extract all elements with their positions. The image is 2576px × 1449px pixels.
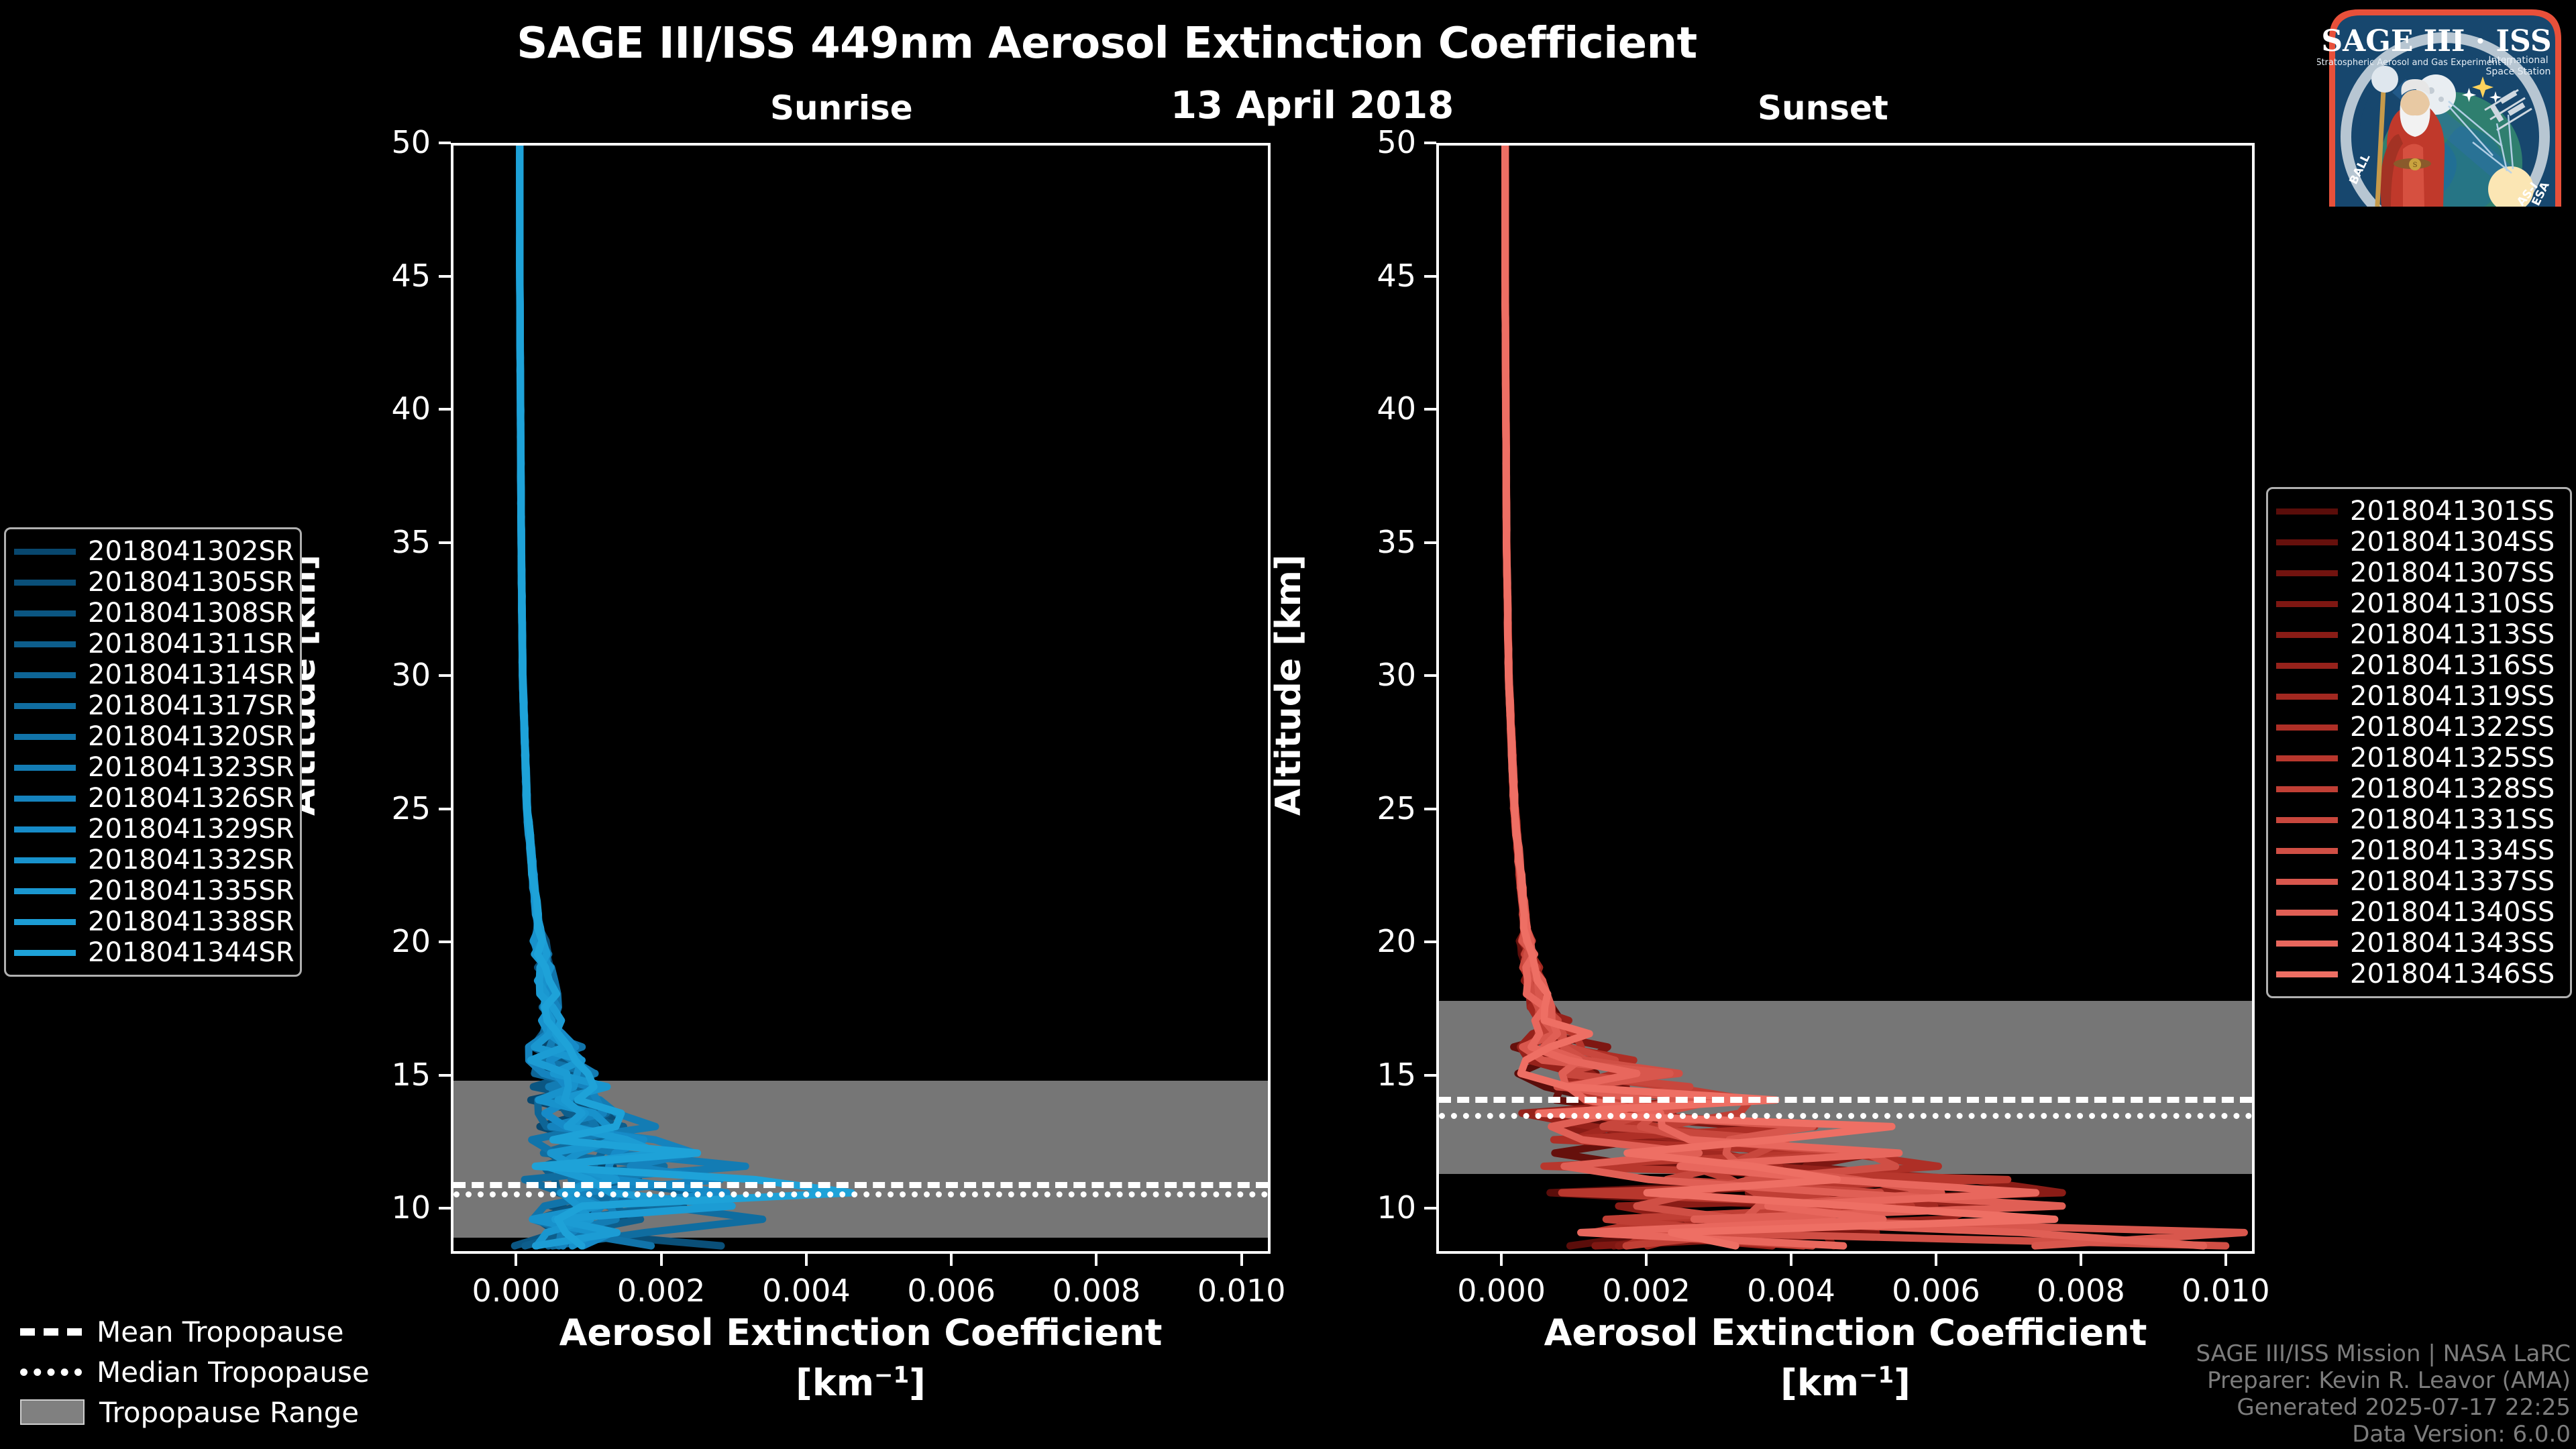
y-tick-label: 30 xyxy=(1302,657,1416,693)
legend-item[interactable]: 2018041325SS xyxy=(2276,743,2561,773)
y-tick-label: 25 xyxy=(1302,790,1416,826)
legend-item-label: 2018041308SR xyxy=(88,598,294,629)
legend-color-swatch xyxy=(2276,848,2338,854)
x-unit-close: ] xyxy=(909,1362,926,1404)
legend-color-swatch xyxy=(2276,786,2338,792)
x-tick-mark xyxy=(1645,1254,1648,1266)
legend-item[interactable]: 2018041331SS xyxy=(2276,804,2561,835)
tropopause-legend-swatch xyxy=(20,1368,82,1376)
legend-color-swatch xyxy=(14,734,76,740)
x-tick-label: 0.004 xyxy=(733,1273,880,1309)
x-tick-mark xyxy=(805,1254,808,1266)
legend-item-label: 2018041304SS xyxy=(2350,527,2555,557)
legend-color-swatch xyxy=(2276,724,2338,731)
x-tick-mark xyxy=(1790,1254,1792,1266)
credits-block: SAGE III/ISS Mission | NASA LaRCPreparer… xyxy=(2196,1340,2571,1448)
y-tick-mark xyxy=(439,941,451,943)
legend-item[interactable]: 2018041346SS xyxy=(2276,959,2561,989)
y-tick-mark xyxy=(439,541,451,544)
tropopause-legend-label: Mean Tropopause xyxy=(97,1316,343,1348)
legend-color-swatch xyxy=(2276,910,2338,916)
y-tick-mark xyxy=(439,142,451,144)
series-plot-lines xyxy=(1439,146,2252,1251)
legend-item-label: 2018041323SR xyxy=(88,752,294,783)
subtitle-sunset: Sunset xyxy=(1758,89,1888,127)
legend-item[interactable]: 2018041337SS xyxy=(2276,866,2561,897)
x-tick-mark xyxy=(1095,1254,1097,1266)
x-unit-base: [km xyxy=(1780,1362,1859,1404)
legend-item-label: 2018041316SS xyxy=(2350,650,2555,681)
legend-item-label: 2018041317SR xyxy=(88,690,294,721)
legend-item-label: 2018041301SS xyxy=(2350,496,2555,527)
legend-color-swatch xyxy=(14,672,76,678)
legend-color-swatch xyxy=(14,765,76,771)
legend-item[interactable]: 2018041305SR xyxy=(14,567,290,598)
mean-tropopause-line xyxy=(1439,1097,2252,1103)
y-tick-label: 45 xyxy=(1302,258,1416,294)
sunrise-legend[interactable]: 2018041302SR2018041305SR2018041308SR2018… xyxy=(4,527,302,977)
legend-color-swatch xyxy=(2276,879,2338,885)
logo-subtitle-right-2: Space Station xyxy=(2486,66,2551,77)
tropopause-legend-swatch xyxy=(20,1399,85,1425)
x-tick-mark xyxy=(515,1254,517,1266)
x-unit-exponent: −1 xyxy=(1859,1362,1894,1389)
y-tick-label: 45 xyxy=(317,258,431,294)
x-tick-mark xyxy=(2224,1254,2227,1266)
y-tick-label: 50 xyxy=(317,124,431,160)
legend-color-swatch xyxy=(14,580,76,586)
x-tick-label: 0.006 xyxy=(1862,1273,2010,1309)
legend-item-label: 2018041307SS xyxy=(2350,557,2555,588)
x-tick-label: 0.008 xyxy=(1022,1273,1170,1309)
tropopause-legend-label: Tropopause Range xyxy=(99,1396,359,1429)
legend-item-label: 2018041343SS xyxy=(2350,928,2555,959)
credits-line: Data Version: 6.0.0 xyxy=(2196,1421,2571,1448)
legend-item[interactable]: 2018041310SS xyxy=(2276,588,2561,619)
legend-item[interactable]: 2018041314SR xyxy=(14,659,290,690)
credits-line: Preparer: Kevin R. Leavor (AMA) xyxy=(2196,1367,2571,1394)
sunset-legend[interactable]: 2018041301SS2018041304SS2018041307SS2018… xyxy=(2266,487,2572,998)
legend-item[interactable]: 2018041317SR xyxy=(14,690,290,721)
median-tropopause-line xyxy=(1439,1113,2252,1119)
x-tick-mark xyxy=(1935,1254,1937,1266)
legend-item-label: 2018041335SR xyxy=(88,875,294,906)
legend-item[interactable]: 2018041343SS xyxy=(2276,928,2561,959)
legend-item[interactable]: 2018041320SR xyxy=(14,721,290,752)
x-tick-label: 0.002 xyxy=(1572,1273,1720,1309)
legend-color-swatch xyxy=(14,950,76,956)
legend-color-swatch xyxy=(14,610,76,616)
legend-color-swatch xyxy=(14,919,76,925)
legend-item[interactable]: 2018041311SR xyxy=(14,629,290,659)
legend-item-label: 2018041346SS xyxy=(2350,959,2555,989)
y-tick-label: 40 xyxy=(317,390,431,427)
legend-item-label: 2018041325SS xyxy=(2350,743,2555,773)
sunrise-plot-axes xyxy=(451,143,1271,1254)
x-tick-label: 0.010 xyxy=(1168,1273,1316,1309)
y-tick-label: 10 xyxy=(317,1189,431,1226)
logo-subtitle-left: Stratospheric Aerosol and Gas Experiment… xyxy=(2317,58,2512,68)
legend-item[interactable]: 2018041344SR xyxy=(14,937,290,968)
legend-item[interactable]: 2018041307SS xyxy=(2276,557,2561,588)
x-tick-mark xyxy=(2080,1254,2082,1266)
y-tick-mark xyxy=(1424,142,1436,144)
x-tick-label: 0.008 xyxy=(2007,1273,2155,1309)
x-tick-mark xyxy=(1240,1254,1243,1266)
legend-item[interactable]: 2018041323SR xyxy=(14,752,290,783)
y-tick-mark xyxy=(1424,275,1436,278)
legend-item-label: 2018041328SS xyxy=(2350,773,2555,804)
y-tick-mark xyxy=(439,275,451,278)
legend-color-swatch xyxy=(14,703,76,709)
tropopause-legend-item: Median Tropopause xyxy=(20,1352,396,1392)
legend-color-swatch xyxy=(2276,601,2338,607)
x-tick-mark xyxy=(660,1254,663,1266)
legend-item[interactable]: 2018041302SR xyxy=(14,536,290,567)
x-unit-base: [km xyxy=(796,1362,874,1404)
legend-item[interactable]: 2018041322SS xyxy=(2276,712,2561,743)
y-tick-mark xyxy=(439,1207,451,1210)
legend-item-label: 2018041329SR xyxy=(88,814,294,845)
legend-item-label: 2018041337SS xyxy=(2350,866,2555,897)
legend-item[interactable]: 2018041335SR xyxy=(14,875,290,906)
sunrise-x-axis-label: Aerosol Extinction Coefficient xyxy=(425,1311,1297,1354)
logo-title: SAGE III · ISS xyxy=(2321,24,2551,58)
y-tick-label: 20 xyxy=(317,923,431,959)
x-tick-mark xyxy=(950,1254,953,1266)
legend-item[interactable]: 2018041328SS xyxy=(2276,773,2561,804)
legend-item-label: 2018041302SR xyxy=(88,536,294,567)
legend-item[interactable]: 2018041332SR xyxy=(14,845,290,875)
y-tick-mark xyxy=(1424,1207,1436,1210)
series-line xyxy=(1505,146,2035,1246)
y-tick-label: 25 xyxy=(317,790,431,826)
series-line xyxy=(1505,146,1935,1246)
legend-item[interactable]: 2018041326SR xyxy=(14,783,290,814)
legend-item-label: 2018041305SR xyxy=(88,567,294,598)
y-tick-mark xyxy=(1424,808,1436,810)
mission-patch-icon: S BALL ESA AS-I SAGE III · ISS xyxy=(2317,5,2573,207)
legend-item[interactable]: 2018041304SS xyxy=(2276,527,2561,557)
legend-item[interactable]: 2018041313SS xyxy=(2276,619,2561,650)
legend-item-label: 2018041340SS xyxy=(2350,897,2555,928)
plot-page: SAGE III/ISS 449nm Aerosol Extinction Co… xyxy=(0,0,2576,1449)
y-tick-mark xyxy=(1424,674,1436,677)
legend-color-swatch xyxy=(2276,663,2338,669)
legend-item-label: 2018041338SR xyxy=(88,906,294,937)
legend-item[interactable]: 2018041338SR xyxy=(14,906,290,937)
legend-item-label: 2018041332SR xyxy=(88,845,294,875)
legend-item-label: 2018041313SS xyxy=(2350,619,2555,650)
y-tick-label: 50 xyxy=(1302,124,1416,160)
legend-color-swatch xyxy=(14,641,76,647)
legend-item[interactable]: 2018041319SS xyxy=(2276,681,2561,712)
y-tick-label: 20 xyxy=(1302,923,1416,959)
svg-text:S: S xyxy=(2413,162,2418,169)
legend-item[interactable]: 2018041340SS xyxy=(2276,897,2561,928)
y-tick-label: 40 xyxy=(1302,390,1416,427)
credits-line: SAGE III/ISS Mission | NASA LaRC xyxy=(2196,1340,2571,1367)
y-tick-mark xyxy=(439,408,451,411)
legend-item-label: 2018041320SR xyxy=(88,721,294,752)
legend-color-swatch xyxy=(2276,570,2338,576)
legend-color-swatch xyxy=(2276,539,2338,545)
logo-subtitle-right-1: International xyxy=(2488,55,2548,66)
legend-item-label: 2018041331SS xyxy=(2350,804,2555,835)
y-tick-label: 10 xyxy=(1302,1189,1416,1226)
legend-color-swatch xyxy=(2276,508,2338,515)
legend-color-swatch xyxy=(2276,755,2338,761)
legend-color-swatch xyxy=(2276,941,2338,947)
legend-item[interactable]: 2018041301SS xyxy=(2276,496,2561,527)
x-tick-label: 0.002 xyxy=(588,1273,735,1309)
sunset-plot-axes xyxy=(1436,143,2255,1254)
legend-color-swatch xyxy=(14,549,76,555)
x-tick-label: 0.000 xyxy=(1428,1273,1575,1309)
credits-line: Generated 2025-07-17 22:25 xyxy=(2196,1394,2571,1421)
subtitle-date: 13 April 2018 xyxy=(1171,84,1454,127)
legend-item[interactable]: 2018041308SR xyxy=(14,598,290,629)
sunset-x-axis-label: Aerosol Extinction Coefficient xyxy=(1409,1311,2282,1354)
tropopause-legend-item: Mean Tropopause xyxy=(20,1311,396,1352)
subtitle-sunrise: Sunrise xyxy=(770,89,913,127)
y-tick-mark xyxy=(1424,408,1436,411)
legend-color-swatch xyxy=(14,888,76,894)
mean-tropopause-line xyxy=(453,1182,1268,1188)
legend-color-swatch xyxy=(2276,632,2338,638)
y-tick-label: 35 xyxy=(1302,524,1416,560)
y-tick-mark xyxy=(439,808,451,810)
legend-item-label: 2018041322SS xyxy=(2350,712,2555,743)
legend-item[interactable]: 2018041316SS xyxy=(2276,650,2561,681)
legend-color-swatch xyxy=(14,826,76,833)
x-unit-exponent: −1 xyxy=(874,1362,909,1389)
legend-item-label: 2018041344SR xyxy=(88,937,294,968)
y-tick-label: 15 xyxy=(317,1057,431,1093)
x-tick-label: 0.004 xyxy=(1717,1273,1865,1309)
tropopause-legend-swatch xyxy=(20,1328,82,1336)
legend-color-swatch xyxy=(14,796,76,802)
median-tropopause-line xyxy=(453,1191,1268,1197)
series-line xyxy=(520,146,625,1246)
y-tick-label: 35 xyxy=(317,524,431,560)
x-tick-mark xyxy=(1500,1254,1503,1266)
legend-item-label: 2018041319SS xyxy=(2350,681,2555,712)
sunrise-x-axis-units: [km−1] xyxy=(425,1362,1297,1404)
series-plot-lines xyxy=(453,146,1268,1251)
legend-item-label: 2018041311SR xyxy=(88,629,294,659)
sage-iii-iss-logo: S BALL ESA AS-I SAGE III · ISS xyxy=(2317,5,2573,207)
x-tick-label: 0.010 xyxy=(2152,1273,2300,1309)
legend-item[interactable]: 2018041329SR xyxy=(14,814,290,845)
y-tick-mark xyxy=(1424,941,1436,943)
y-tick-mark xyxy=(439,1074,451,1077)
y-tick-mark xyxy=(1424,541,1436,544)
x-tick-label: 0.000 xyxy=(442,1273,590,1309)
legend-item[interactable]: 2018041334SS xyxy=(2276,835,2561,866)
legend-color-swatch xyxy=(2276,971,2338,977)
y-tick-label: 30 xyxy=(317,657,431,693)
legend-item-label: 2018041314SR xyxy=(88,659,294,690)
legend-item-label: 2018041310SS xyxy=(2350,588,2555,619)
y-tick-mark xyxy=(1424,1074,1436,1077)
x-tick-label: 0.006 xyxy=(877,1273,1025,1309)
legend-color-swatch xyxy=(2276,817,2338,823)
legend-item-label: 2018041334SS xyxy=(2350,835,2555,866)
sunset-x-axis-units: [km−1] xyxy=(1409,1362,2282,1404)
y-tick-label: 15 xyxy=(1302,1057,1416,1093)
y-tick-mark xyxy=(439,674,451,677)
x-unit-close: ] xyxy=(1894,1362,1911,1404)
tropopause-legend-item: Tropopause Range xyxy=(20,1392,396,1432)
page-title: SAGE III/ISS 449nm Aerosol Extinction Co… xyxy=(0,19,2214,68)
tropopause-legend: Mean TropopauseMedian TropopauseTropopau… xyxy=(20,1311,396,1432)
legend-item-label: 2018041326SR xyxy=(88,783,294,814)
tropopause-legend-label: Median Tropopause xyxy=(97,1356,370,1389)
legend-color-swatch xyxy=(2276,694,2338,700)
legend-color-swatch xyxy=(14,857,76,863)
sunset-y-axis-label: Altitude [km] xyxy=(1269,554,1309,816)
